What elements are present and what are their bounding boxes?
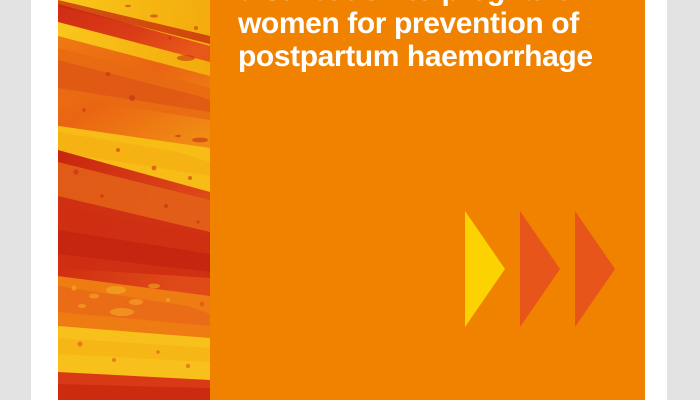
headline-line-3: postpartum haemorrhage (238, 40, 638, 73)
chevron-right-icon-3 (575, 211, 615, 327)
cover-orange-panel: distribution to pregnant women for preve… (58, 0, 645, 400)
page-margin-left (0, 0, 31, 400)
chevron-right-icon-1 (465, 211, 505, 327)
cover-headline: distribution to pregnant women for preve… (238, 0, 638, 73)
cover-photo-abstract-orange-texture (58, 0, 210, 400)
chevron-right-icon-2 (520, 211, 560, 327)
page-gutter-left (31, 0, 58, 400)
headline-line-1: distribution to pregnant (238, 0, 638, 7)
headline-line-2: women for prevention of (238, 7, 638, 40)
page-margin-right (667, 0, 700, 400)
publication-cover-page: distribution to pregnant women for preve… (0, 0, 700, 400)
chevron-motif (465, 211, 615, 327)
page-gutter-right (645, 0, 667, 400)
